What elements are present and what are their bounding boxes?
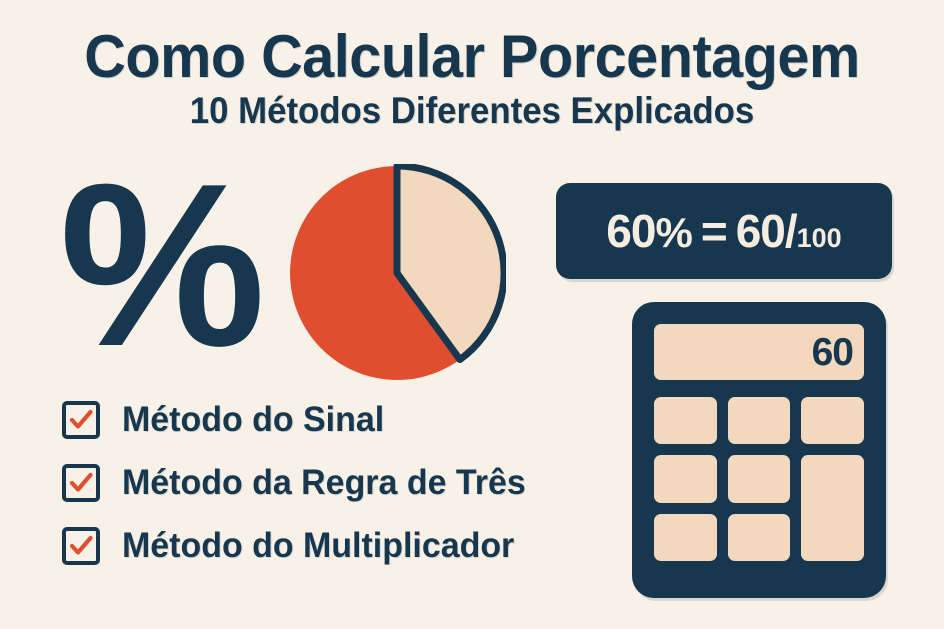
page-title: Como Calcular Porcentagem [19, 26, 925, 88]
check-icon [68, 533, 94, 559]
list-item-label: Método da Regra de Três [122, 463, 526, 503]
list-item-label: Método do Sinal [122, 400, 384, 440]
list-item[interactable]: Método da Regra de Três [62, 455, 538, 511]
formula-percent-sign: % [655, 209, 691, 257]
list-item-label: Método do Multiplicador [122, 526, 514, 566]
list-item[interactable]: Método do Multiplicador [62, 518, 538, 574]
calculator-key[interactable] [654, 455, 717, 502]
formula-badge: 60% = 60/100 [556, 183, 892, 279]
calculator-key[interactable] [728, 397, 791, 444]
calculator-key[interactable] [654, 514, 717, 561]
formula-denominator: 100 [797, 223, 842, 254]
calculator-icon: 60 [632, 302, 886, 598]
list-item[interactable]: Método do Sinal [62, 392, 538, 448]
page-subtitle: 10 Métodos Diferentes Explicados [28, 90, 915, 132]
pie-chart [288, 164, 506, 382]
pie-chart-svg [288, 164, 506, 382]
header: Como Calcular Porcentagem 10 Métodos Dif… [0, 26, 944, 132]
calculator-key[interactable] [728, 455, 791, 502]
calculator-keypad [654, 397, 864, 561]
calculator-key[interactable] [728, 514, 791, 561]
calculator-display-value: 60 [812, 333, 853, 372]
formula-expression: 60% = 60/100 [606, 204, 841, 258]
checkbox-metodo-do-sinal[interactable] [62, 401, 100, 439]
formula-value: 60 [606, 204, 655, 258]
calculator-key-equals[interactable] [801, 455, 864, 561]
formula-slash: / [785, 204, 797, 258]
formula-equals: = [701, 204, 727, 258]
checkbox-metodo-da-regra-de-tres[interactable] [62, 464, 100, 502]
percent-symbol-icon: % [55, 158, 260, 373]
formula-numerator: 60 [736, 204, 785, 258]
calculator-display: 60 [654, 324, 864, 380]
check-icon [68, 407, 94, 433]
checkbox-metodo-do-multiplicador[interactable] [62, 527, 100, 565]
check-icon [68, 470, 94, 496]
calculator-key[interactable] [801, 397, 864, 444]
infographic-canvas: Como Calcular Porcentagem 10 Métodos Dif… [0, 0, 944, 629]
method-checklist: Método do Sinal Método da Regra de Três … [62, 392, 538, 581]
calculator-key[interactable] [654, 397, 717, 444]
